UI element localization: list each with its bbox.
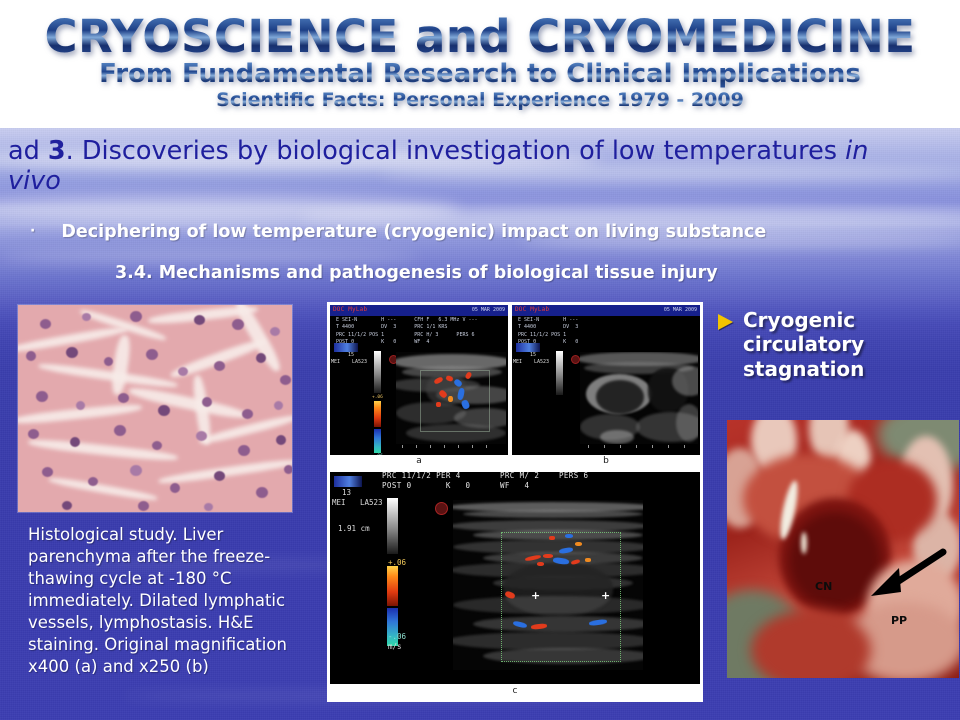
ultrasound-a-brand: DOC MyLab [333, 306, 367, 313]
ultrasound-c-depth-index: 13 [342, 488, 351, 497]
ultrasound-b-brand: DOC MyLab [515, 306, 549, 313]
ultrasound-b-logo-icon [571, 355, 580, 364]
ultrasound-b-depth-index: 15 [530, 352, 536, 358]
ultrasound-label-c: c [330, 686, 700, 696]
slide-root: CRYOSCIENCE and CRYOMEDICINE From Fundam… [0, 0, 960, 720]
bullet-level1-label: Deciphering of low temperature (cryogeni… [61, 222, 766, 243]
ultrasound-image-a: DOC MyLab 05 MAR 2009 E SEI-N H --- CFH … [330, 305, 508, 455]
arrow-bullet-icon [718, 314, 733, 330]
presentation-header: CRYOSCIENCE and CRYOMEDICINE From Fundam… [0, 0, 960, 128]
photo-label-pp: PP [891, 614, 907, 627]
ultrasound-a-date: 05 MAR 2009 [472, 307, 505, 313]
ultrasound-image-c: PRC 11/1/2 PER 4 PRC M/ 2 PERS 6 POST 0 … [330, 472, 700, 684]
ultrasound-c-warm-scale [387, 566, 398, 606]
header-subtitle: From Fundamental Research to Clinical Im… [0, 61, 960, 88]
ultrasound-a-color-chip [334, 343, 358, 352]
ultrasound-label-b: b [512, 456, 700, 466]
ultrasound-image-b: DOC MyLab 05 MAR 2009 E SEI-N H --- T 44… [512, 305, 700, 455]
histology-image [18, 305, 292, 512]
title-number: 3 [48, 136, 66, 166]
ultrasound-b-probe: LA523 [534, 359, 549, 365]
ultrasound-a-probe: LA523 [352, 359, 367, 365]
ultrasound-c-scale-units: m/s [388, 642, 402, 651]
ultrasound-panel: DOC MyLab 05 MAR 2009 E SEI-N H --- CFH … [327, 302, 703, 702]
title-rest: . Discoveries by biological investigatio… [66, 136, 845, 166]
ultrasound-c-grayscale-bar [387, 498, 398, 554]
ultrasound-c-color-chip [334, 476, 362, 487]
ultrasound-c-probe-prefix: MEI [332, 498, 346, 507]
ultrasound-c-caliper-right: + [601, 590, 610, 601]
ultrasound-b-grayscale-bar [556, 351, 563, 395]
ultrasound-c-caliper-left: + [531, 590, 540, 601]
ultrasound-c-depth: 1.91 cm [338, 524, 370, 533]
ultrasound-c-params: PRC 11/1/2 PER 4 PRC M/ 2 PERS 6 POST 0 … [382, 472, 700, 491]
ultrasound-b-scan-area [580, 352, 698, 444]
section-heading: 3.4. Mechanisms and pathogenesis of biol… [115, 263, 915, 283]
bullet-level1: · Deciphering of low temperature (cryoge… [30, 222, 940, 243]
title-prefix: ad [8, 136, 48, 166]
pointer-arrow-icon [863, 546, 947, 598]
ultrasound-label-a: a [330, 456, 508, 466]
bullet-dot-icon: · [30, 222, 35, 240]
ultrasound-a-scan-area [396, 352, 506, 444]
ultrasound-b-color-chip [516, 343, 540, 352]
header-tagline: Scientific Facts: Personal Experience 19… [0, 91, 960, 111]
histology-caption: Histological study. Liver parenchyma aft… [28, 524, 328, 678]
ultrasound-c-scan-area: + + [453, 500, 643, 670]
ultrasound-c-probe: LA523 [360, 498, 383, 507]
ultrasound-b-date: 05 MAR 2009 [664, 307, 697, 313]
right-bullet-label: Cryogenic circulatory stagnation [743, 308, 958, 381]
ultrasound-c-logo-icon [435, 502, 448, 515]
ultrasound-a-probe-prefix: MEI [331, 359, 340, 365]
right-bullet: Cryogenic circulatory stagnation [718, 308, 958, 381]
ultrasound-b-probe-prefix: MEI [513, 359, 522, 365]
header-title-main: CRYOSCIENCE and CRYOMEDICINE [0, 14, 960, 59]
photo-label-cn: CN [815, 580, 832, 593]
ultrasound-a-grayscale-bar [374, 351, 381, 393]
ultrasound-a-cool-scale [374, 429, 381, 453]
ultrasound-a-depth-index: 15 [348, 352, 354, 358]
ultrasound-c-scale-upper: +.06 [388, 558, 406, 567]
surgical-photo: CN PP [727, 420, 959, 678]
ultrasound-a-warm-scale [374, 401, 381, 427]
ultrasound-a-params: E SEI-N H --- CFH F 6.3 MHz V --- T 4400… [330, 317, 508, 346]
ultrasound-c-scale-lower: -.06 [388, 632, 406, 641]
ultrasound-b-params: E SEI-N H --- T 4400 DV 3 PRC 11/1/2 POS… [512, 317, 700, 346]
slide-title: ad 3. Discoveries by biological investig… [8, 136, 888, 196]
